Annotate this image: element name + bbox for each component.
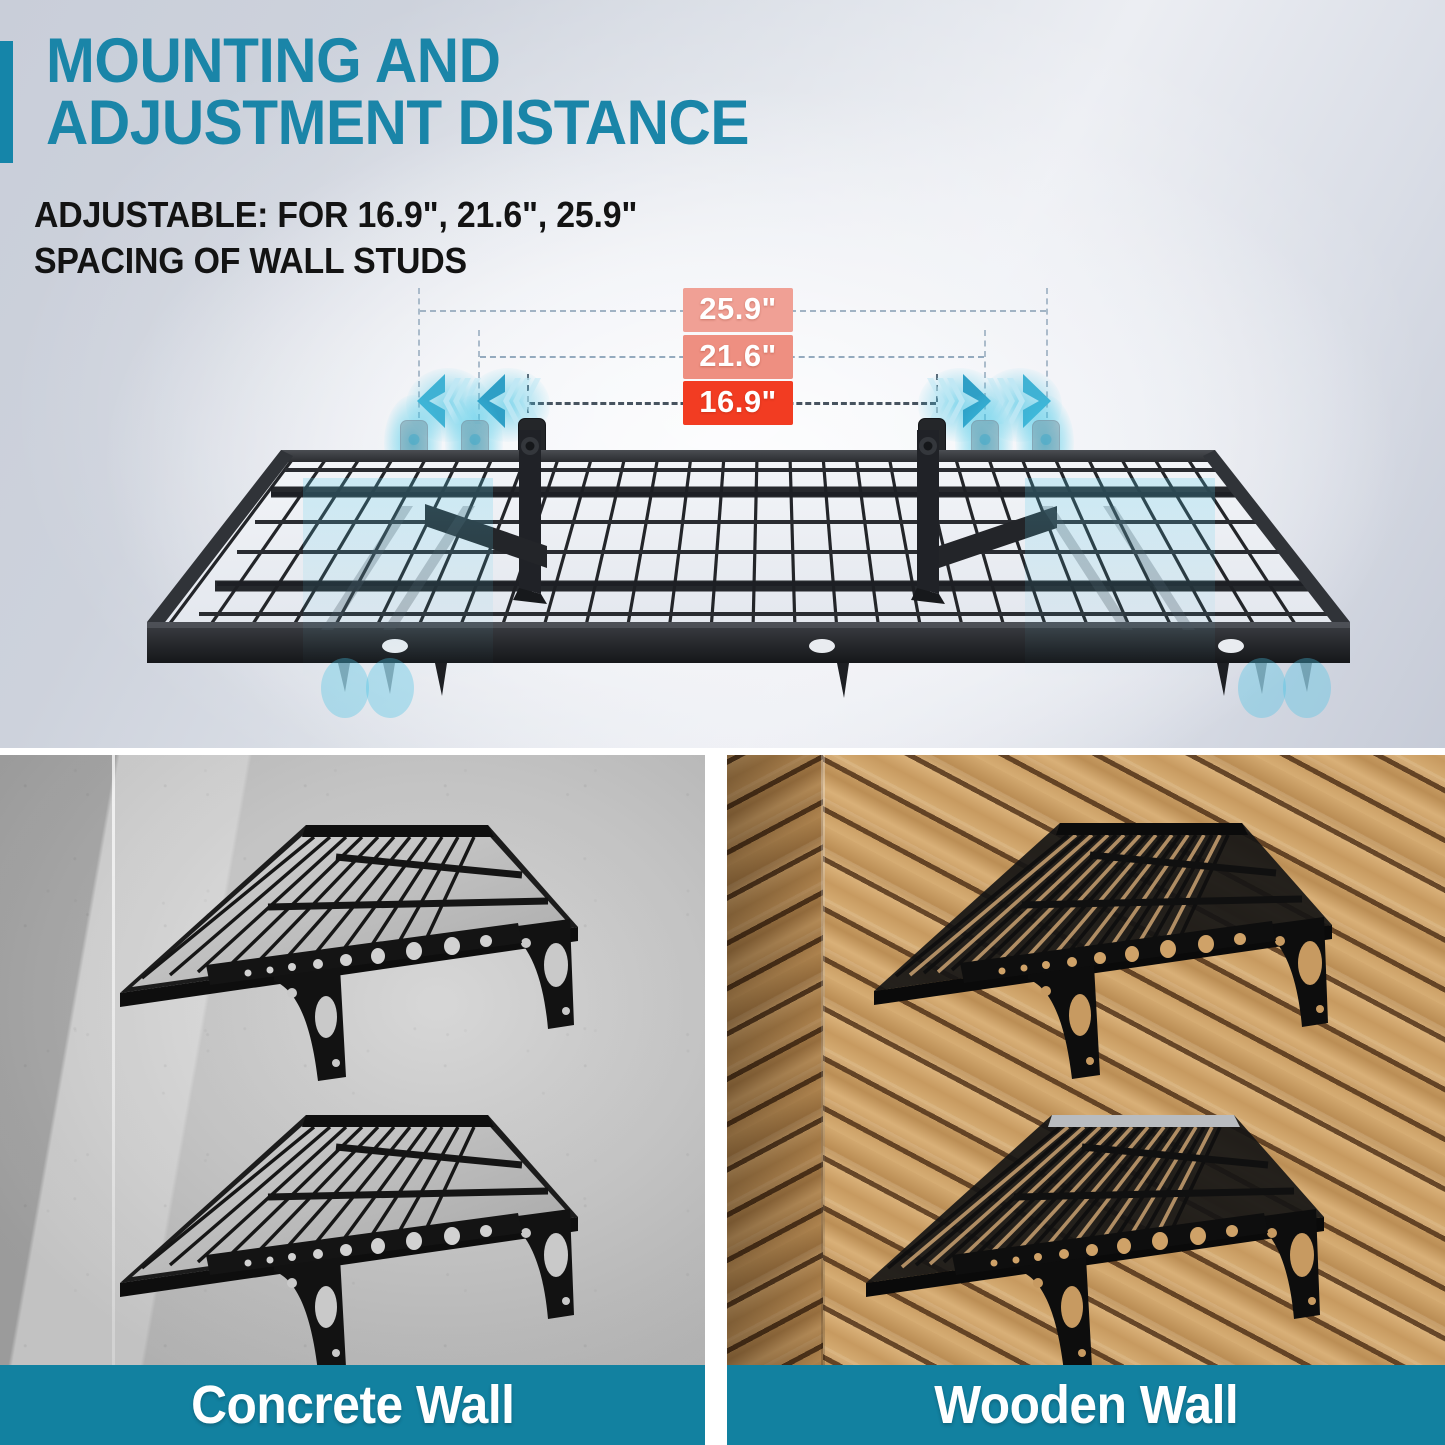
infographic-page: MOUNTING AND ADJUSTMENT DISTANCE ADJUSTA… [0, 0, 1445, 1445]
concrete-shelf-upper [78, 815, 638, 1135]
wire-mesh-shelf-illustration [95, 418, 1360, 708]
wooden-wall-caption-banner: Wooden Wall [727, 1365, 1445, 1445]
wooden-shelf-upper [827, 813, 1397, 1133]
hero-section: MOUNTING AND ADJUSTMENT DISTANCE ADJUSTA… [0, 0, 1445, 748]
application-photo-panels: Concrete Wall [0, 755, 1445, 1445]
concrete-wall-caption-label: Concrete Wall [191, 1374, 514, 1436]
wooden-wall-panel: Wooden Wall [727, 755, 1445, 1445]
measurement-badge-21: 21.6" [683, 335, 793, 379]
wooden-wall-caption-label: Wooden Wall [934, 1374, 1238, 1436]
concrete-wall-caption-banner: Concrete Wall [0, 1365, 705, 1445]
concrete-wall-panel: Concrete Wall [0, 755, 705, 1445]
measurement-badge-25: 25.9" [683, 288, 793, 332]
